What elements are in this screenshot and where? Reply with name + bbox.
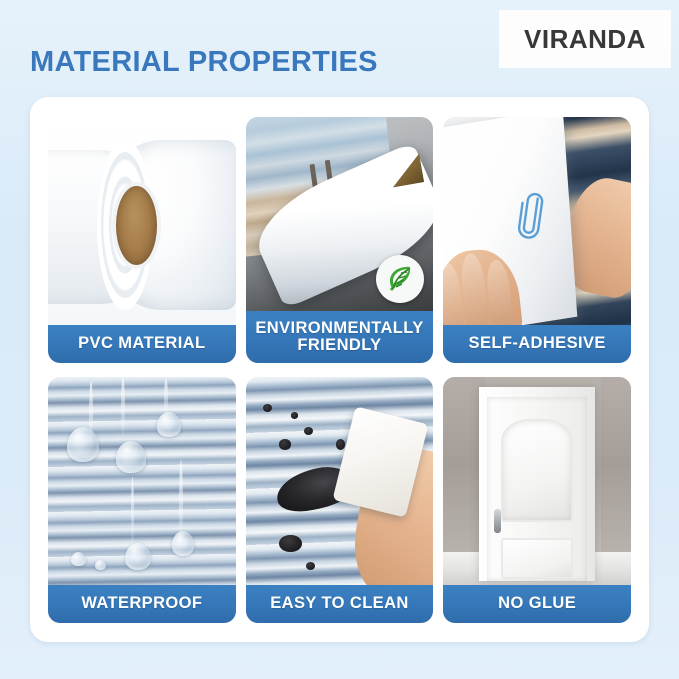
self-adhesive-photo xyxy=(443,117,631,325)
feature-label-no-glue: NO GLUE xyxy=(443,585,631,623)
water-drop-icon xyxy=(95,560,106,570)
feature-grid: PVC MATERIAL xyxy=(48,117,631,623)
brand-logo-text: VIRANDA xyxy=(524,24,646,55)
water-drop-icon xyxy=(157,412,181,437)
water-drop-icon xyxy=(67,427,99,462)
feature-tile-waterproof[interactable]: WATERPROOF xyxy=(48,377,236,623)
door-frame-icon xyxy=(479,387,595,580)
eco-leaf-badge xyxy=(376,255,424,303)
door-panel-bottom-icon xyxy=(501,538,573,579)
waterproof-photo xyxy=(48,377,236,585)
brand-logo-badge: VIRANDA xyxy=(499,10,671,68)
door-panel-top-icon xyxy=(501,419,573,522)
pvc-roll-photo xyxy=(48,117,236,325)
water-drop-icon xyxy=(116,441,146,472)
feature-tile-easy-to-clean[interactable]: EASY TO CLEAN xyxy=(246,377,434,623)
material-properties-infographic: MATERIAL PROPERTIES VIRANDA PVC MATERIAL xyxy=(0,0,679,679)
feature-label-pvc-material: PVC MATERIAL xyxy=(48,325,236,363)
water-streak-icon xyxy=(131,477,134,552)
easy-to-clean-photo xyxy=(246,377,434,585)
feature-card: PVC MATERIAL xyxy=(30,97,649,642)
feature-tile-self-adhesive[interactable]: SELF-ADHESIVE xyxy=(443,117,631,363)
stain-icon xyxy=(291,412,299,418)
eco-wallpaper-photo xyxy=(246,117,434,311)
wall-right-icon xyxy=(601,377,631,552)
water-drop-icon xyxy=(172,531,195,556)
page-title: MATERIAL PROPERTIES xyxy=(30,46,378,79)
door-handle-icon xyxy=(494,509,501,533)
feature-tile-no-glue[interactable]: NO GLUE xyxy=(443,377,631,623)
stain-icon xyxy=(279,439,290,449)
feature-tile-pvc-material[interactable]: PVC MATERIAL xyxy=(48,117,236,363)
water-drop-icon xyxy=(125,543,151,570)
stain-icon xyxy=(279,535,302,552)
door-icon xyxy=(487,397,587,581)
feature-label-easy-to-clean: EASY TO CLEAN xyxy=(246,585,434,623)
finger-icon xyxy=(459,253,490,325)
feature-label-self-adhesive: SELF-ADHESIVE xyxy=(443,325,631,363)
finger-icon xyxy=(484,259,514,325)
water-drop-icon xyxy=(71,552,86,567)
feature-label-environmentally-friendly: ENVIRONMENTALLY FRIENDLY xyxy=(246,311,434,363)
feature-label-waterproof: WATERPROOF xyxy=(48,585,236,623)
stain-icon xyxy=(336,439,345,449)
feature-tile-environmentally-friendly[interactable]: ENVIRONMENTALLY FRIENDLY xyxy=(246,117,434,363)
leaf-icon xyxy=(383,262,417,296)
no-glue-photo xyxy=(443,377,631,585)
cardboard-core-icon xyxy=(116,186,157,265)
